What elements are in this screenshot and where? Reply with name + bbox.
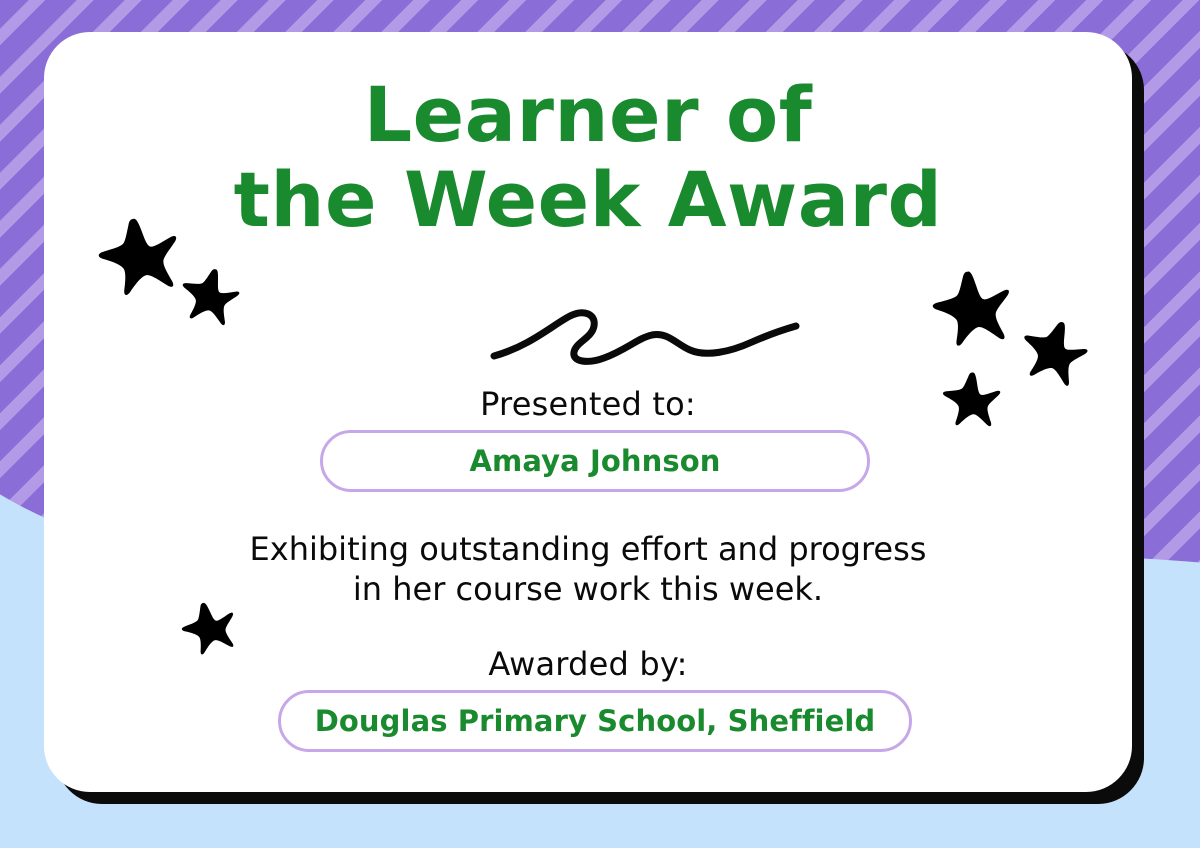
star-right-large-icon (926, 264, 1018, 356)
title-line-2: the Week Award (44, 157, 1132, 242)
awarder-name-value: Douglas Primary School, Sheffield (315, 704, 876, 738)
squiggle-divider-icon (484, 300, 804, 370)
citation-line-2: in her course work this week. (104, 569, 1072, 609)
awarder-name-field[interactable]: Douglas Primary School, Sheffield (278, 690, 912, 752)
recipient-name-value: Amaya Johnson (469, 444, 720, 478)
star-right-mid-icon (1009, 309, 1097, 397)
certificate-title: Learner of the Week Award (44, 72, 1132, 242)
certificate-card: Learner of the Week Award Presented to: … (44, 32, 1132, 792)
awarded-by-label: Awarded by: (44, 645, 1132, 683)
recipient-name-field[interactable]: Amaya Johnson (320, 430, 870, 492)
certificate-canvas: Learner of the Week Award Presented to: … (0, 0, 1200, 848)
title-line-1: Learner of (44, 72, 1132, 157)
star-top-left-small-icon (171, 259, 246, 334)
citation-line-1: Exhibiting outstanding effort and progre… (104, 529, 1072, 569)
presented-to-label: Presented to: (44, 385, 1132, 423)
citation-text: Exhibiting outstanding effort and progre… (104, 529, 1072, 610)
